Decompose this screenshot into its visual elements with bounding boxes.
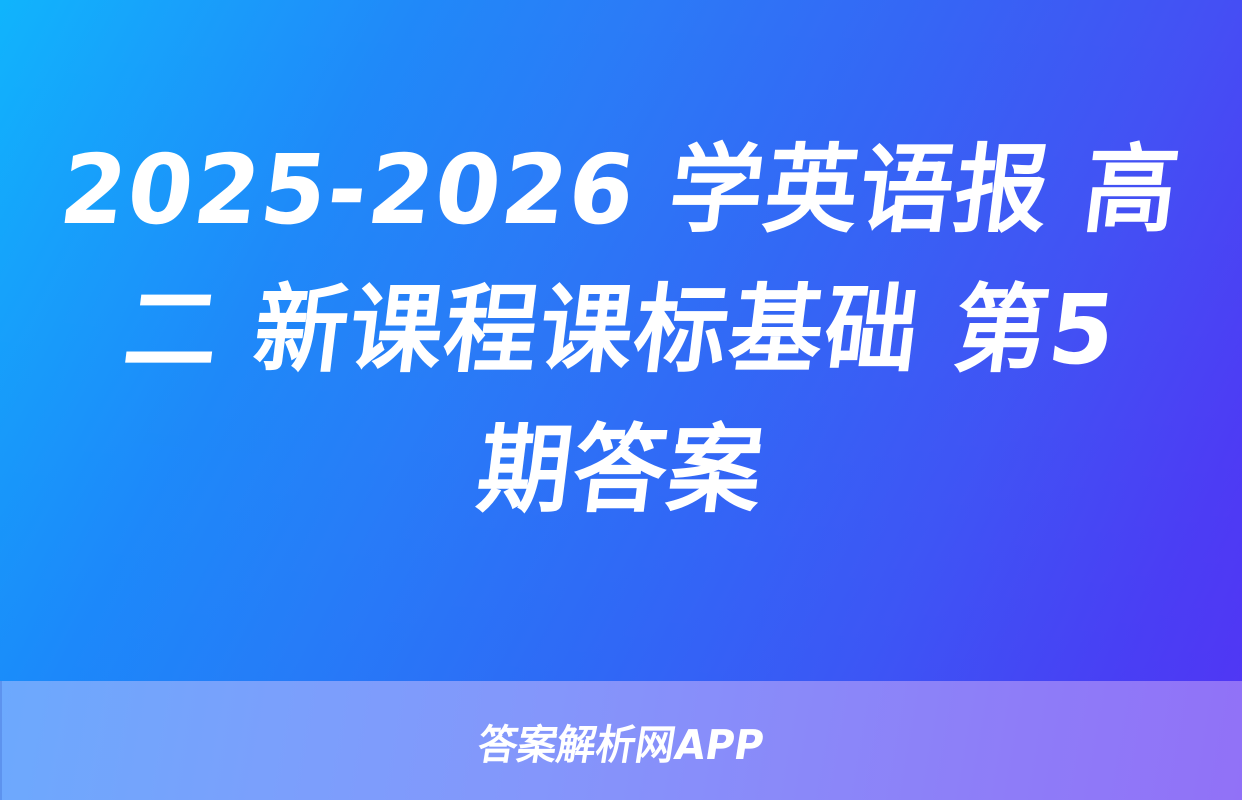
title-block: 2025-2026 学英语报 高 二 新课程课标基础 第5 期答案 xyxy=(0,0,1242,681)
title-line-3: 期答案 xyxy=(470,400,772,540)
title-line-2: 二 新课程课标基础 第5 xyxy=(117,260,1125,400)
brand-watermark-label: 答案解析网APP xyxy=(474,711,768,771)
brand-footer-band: 答案解析网APP xyxy=(0,681,1242,800)
title-line-1: 2025-2026 学英语报 高 xyxy=(53,120,1189,260)
poster-canvas: 2025-2026 学英语报 高 二 新课程课标基础 第5 期答案 答案解析网A… xyxy=(0,0,1242,800)
